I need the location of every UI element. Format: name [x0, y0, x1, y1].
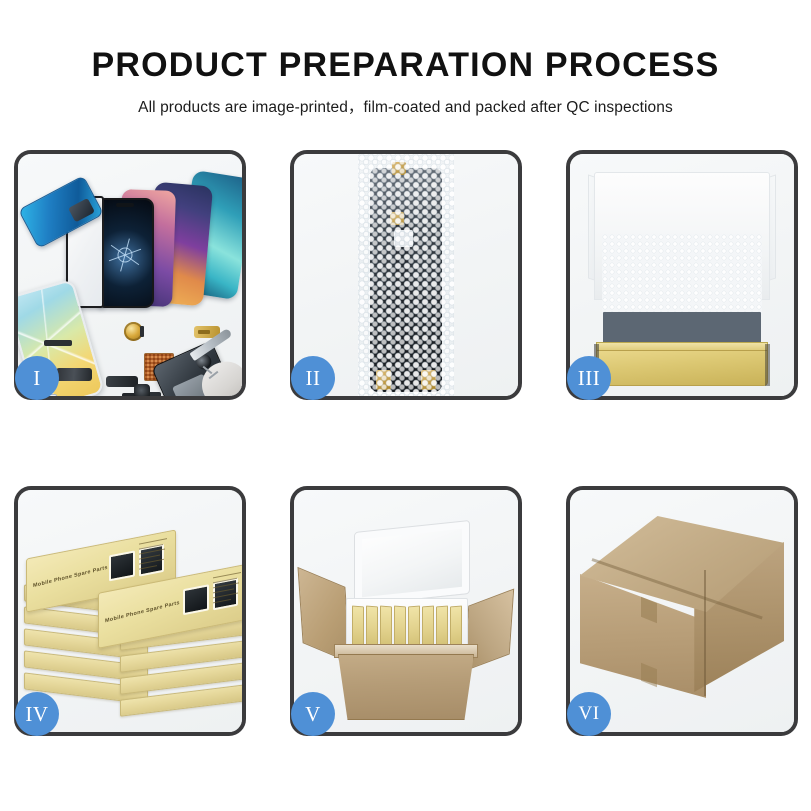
spare-parts-scene [18, 154, 242, 396]
sealed-shipping-carton [580, 516, 784, 714]
stacked-retail-boxes: Mobile Phone Spare Parts Mobile Phone Sp… [22, 504, 238, 726]
step-2-image [294, 154, 518, 396]
step-3-image [570, 154, 794, 396]
step-panel-2-bubble-wrap-packing: II [290, 150, 522, 400]
step-badge-5: V [291, 692, 335, 736]
box-corner-icon [765, 344, 770, 386]
process-steps-grid: I II [14, 150, 798, 736]
camera-module-part-icon [134, 384, 150, 396]
box-brand-label: Mobile Phone Spare Parts [105, 600, 180, 624]
foam-lid-icon [354, 520, 470, 606]
phone-screen-black-icon [96, 198, 154, 308]
pin-part-icon [140, 326, 144, 337]
step-badge-3: III [567, 356, 611, 400]
box-fineprint-icon [213, 571, 242, 618]
step-1-image [18, 154, 242, 396]
step-4-image: Mobile Phone Spare Parts Mobile Phone Sp… [18, 490, 242, 732]
bubble-texture-icon [358, 154, 454, 396]
box-fineprint-icon [139, 537, 173, 584]
step-badge-2: II [291, 356, 335, 400]
screws-icon [202, 362, 224, 382]
carton-edge-icon [704, 570, 706, 696]
open-inner-box [588, 172, 776, 374]
header: PRODUCT PREPARATION PROCESS All products… [0, 0, 811, 117]
box-window-screen-icon [183, 584, 209, 615]
flex-cable-part-icon [106, 376, 138, 387]
box-tray-front-icon [596, 350, 768, 386]
page-subtitle: All products are image-printed，film-coat… [0, 95, 811, 117]
step-panel-1-spare-parts-overview: I [14, 150, 246, 400]
step-panel-6-sealed-carton: VI [566, 486, 798, 736]
bubble-wrap-bag [358, 154, 454, 396]
step-badge-6: VI [567, 692, 611, 736]
step-panel-4-boxes-stacked: Mobile Phone Spare Parts Mobile Phone Sp… [14, 486, 246, 736]
step-badge-4: IV [15, 692, 59, 736]
foam-sheet-icon [602, 234, 762, 314]
open-shipping-carton [300, 512, 512, 724]
carton-body-icon [338, 654, 474, 720]
flex-cable-part-icon [56, 368, 92, 381]
step-5-image [294, 490, 518, 732]
step-badge-1: I [15, 356, 59, 400]
step-6-image [570, 490, 794, 732]
page-title: PRODUCT PREPARATION PROCESS [0, 47, 811, 84]
step-panel-3-inner-box-packing: III [566, 150, 798, 400]
product-preparation-process-infographic: PRODUCT PREPARATION PROCESS All products… [0, 0, 811, 811]
earpiece-part-icon [44, 340, 72, 346]
phone-notch-icon [116, 203, 134, 207]
box-brand-label: Mobile Phone Spare Parts [33, 565, 108, 589]
box-window-screen-icon [109, 550, 135, 581]
step-panel-5-foam-carton-packing: V [290, 486, 522, 736]
cracked-glass-icon [106, 236, 144, 274]
